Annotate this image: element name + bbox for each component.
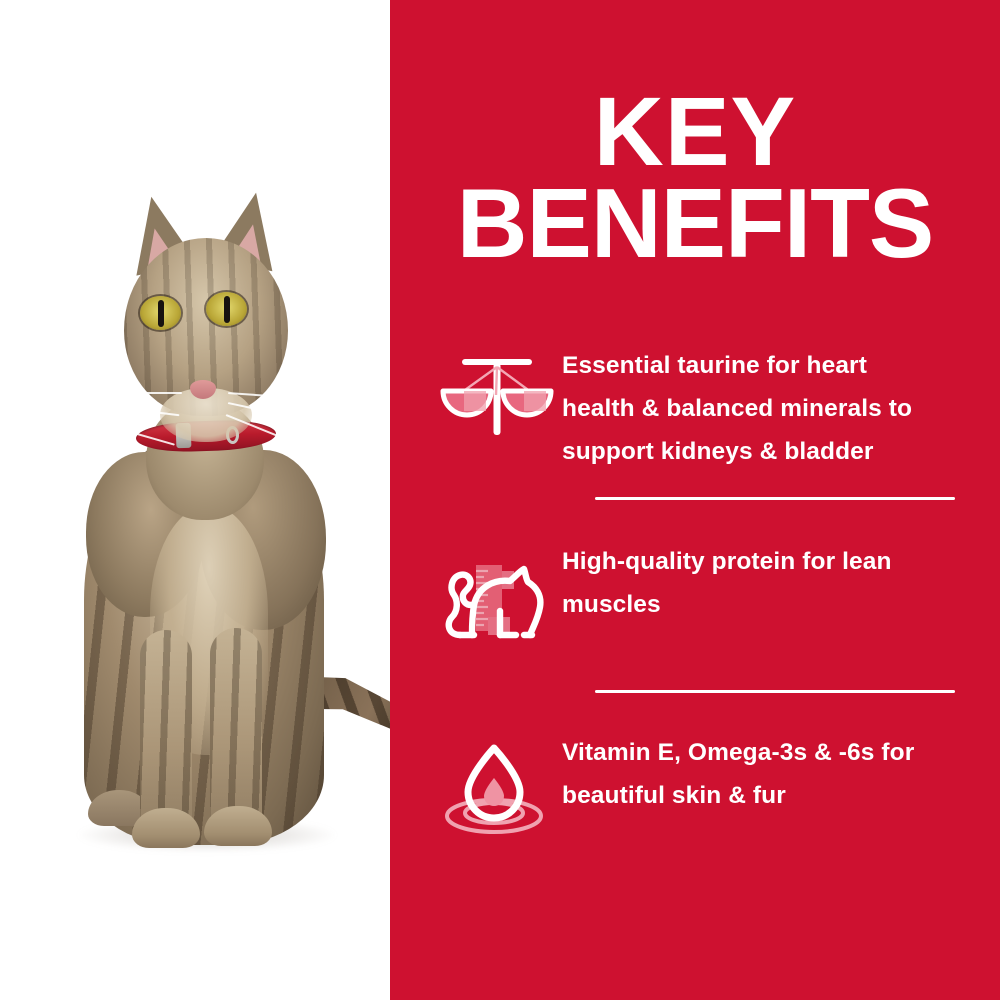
page-title: KEY BENEFITS <box>390 86 1000 269</box>
cat-photograph <box>0 0 390 1000</box>
title-line-benefits: BENEFITS <box>390 177 1000 269</box>
benefit-text-taurine: Essential taurine for heart health & bal… <box>562 334 928 473</box>
cat-pupil-left <box>158 300 164 327</box>
cat-measuring-tape-icon <box>432 530 562 660</box>
cat-illustration <box>0 0 390 1000</box>
benefit-item-taurine: Essential taurine for heart health & bal… <box>390 330 1000 473</box>
title-line-key: KEY <box>390 86 1000 177</box>
benefit-list: Essential taurine for heart health & bal… <box>390 330 1000 851</box>
water-droplet-icon <box>432 721 562 851</box>
key-benefits-panel: KEY BENEFITS <box>0 0 1000 1000</box>
cat-pupil-right <box>224 296 230 323</box>
benefit-item-skin-fur: Vitamin E, Omega-3s & -6s for beautiful … <box>390 693 1000 851</box>
benefit-item-protein: High-quality protein for lean muscles <box>390 500 1000 660</box>
cat-whisker <box>104 392 182 394</box>
cat-photo-panel <box>0 0 390 1000</box>
benefit-text-skin-fur: Vitamin E, Omega-3s & -6s for beautiful … <box>562 721 928 817</box>
balance-scale-icon <box>432 334 562 464</box>
benefits-panel: KEY BENEFITS <box>390 0 1000 1000</box>
benefit-text-protein: High-quality protein for lean muscles <box>562 530 928 626</box>
